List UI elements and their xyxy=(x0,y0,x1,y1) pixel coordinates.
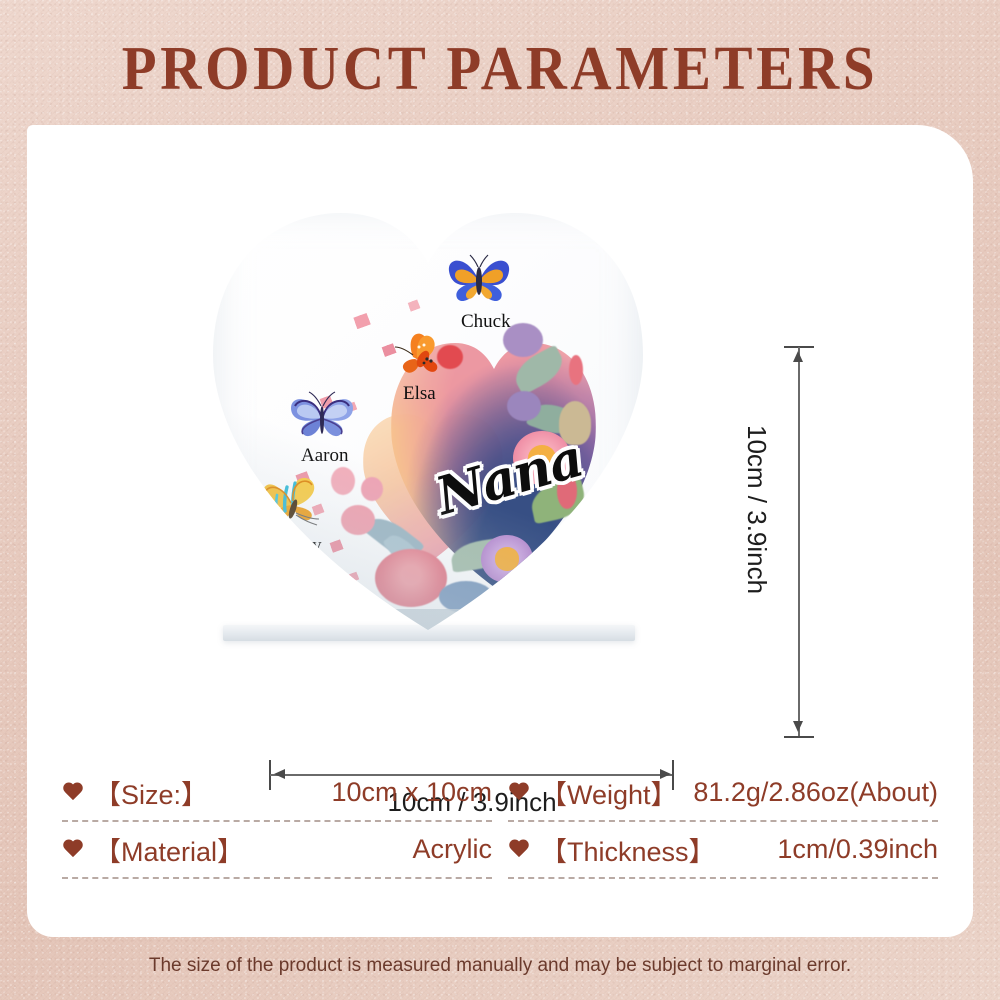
heart-icon xyxy=(508,840,530,860)
heart-icon xyxy=(62,783,84,803)
spec-key-size: 【Size:】 xyxy=(94,773,208,812)
spec-key-material: 【Material】 xyxy=(94,830,244,869)
spec-value-size: 10cm x 10cm xyxy=(331,777,492,808)
spec-column-right: 【Weight】 81.2g/2.86oz(About) 【Thickness】… xyxy=(508,765,938,879)
spec-value-thickness: 1cm/0.39inch xyxy=(777,834,938,865)
footer-disclaimer: The size of the product is measured manu… xyxy=(0,955,1000,977)
dimension-cap-bottom xyxy=(784,736,814,738)
dimension-label-vertical: 10cm / 3.9inch xyxy=(741,425,772,594)
spec-key-thickness: 【Thickness】 xyxy=(540,830,716,869)
content-card: Chuck xyxy=(27,125,973,937)
arrow-down-icon xyxy=(793,721,803,732)
heart-icon xyxy=(62,840,84,860)
dimension-line-vertical xyxy=(798,347,800,737)
spec-separator-right-2 xyxy=(508,877,938,879)
spec-column-left: 【Size:】 10cm x 10cm 【Material】 Acrylic xyxy=(62,765,492,879)
spec-value-weight: 81.2g/2.86oz(About) xyxy=(693,777,938,808)
spec-row-material: 【Material】 Acrylic xyxy=(62,822,492,877)
spec-value-material: Acrylic xyxy=(413,834,493,865)
spec-row-size: 【Size:】 10cm x 10cm xyxy=(62,765,492,820)
spec-separator-left-2 xyxy=(62,877,492,879)
acrylic-edge-shadow xyxy=(213,205,643,635)
page-title: PRODUCT PARAMETERS xyxy=(40,34,960,105)
arrow-up-icon xyxy=(793,351,803,362)
heart-plaque-shape: Chuck xyxy=(213,205,643,635)
spec-table: 【Size:】 10cm x 10cm 【Material】 Acrylic 【… xyxy=(27,765,973,937)
product-image-area: Chuck xyxy=(27,125,973,725)
spec-key-weight: 【Weight】 xyxy=(540,773,678,812)
spec-row-thickness: 【Thickness】 1cm/0.39inch xyxy=(508,822,938,877)
spec-row-weight: 【Weight】 81.2g/2.86oz(About) xyxy=(508,765,938,820)
heart-icon xyxy=(508,783,530,803)
heart-acrylic-plaque: Chuck xyxy=(213,205,643,635)
